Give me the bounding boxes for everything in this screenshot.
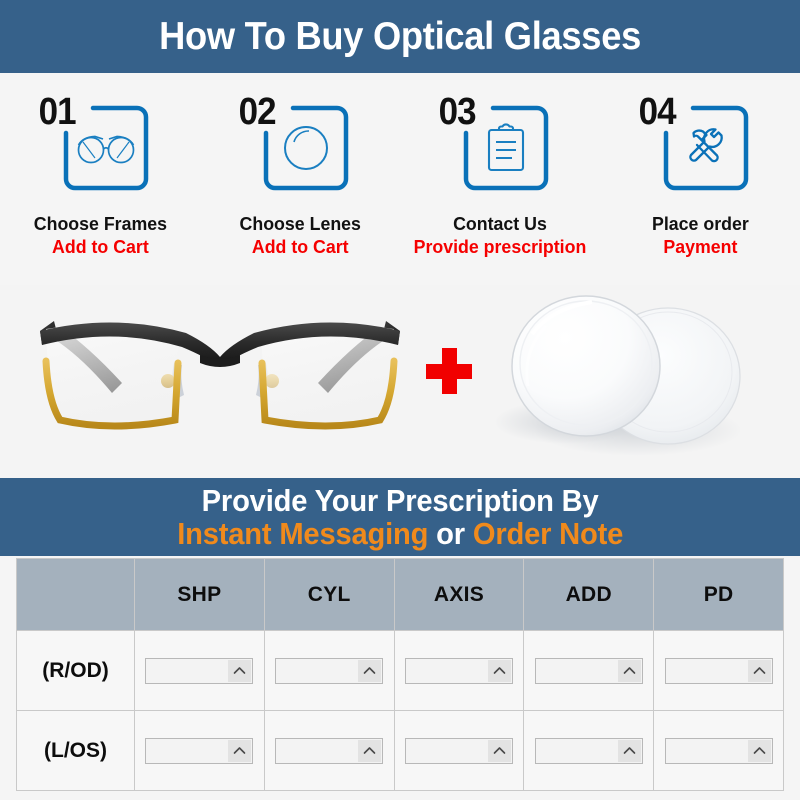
chevron-up-icon[interactable] bbox=[228, 660, 251, 682]
step-3-number: 03 bbox=[439, 93, 476, 131]
select-left-cyl[interactable] bbox=[275, 738, 383, 764]
cell-left-cyl bbox=[264, 711, 394, 791]
hammer-wrench-icon bbox=[663, 105, 749, 191]
step-1-label: Choose Frames bbox=[33, 213, 166, 234]
step-item-2: 02 Choose Lenes Add to Cart bbox=[200, 73, 400, 285]
row-label-left-eye: (L/OS) bbox=[17, 711, 135, 791]
step-2-icon-wrap: 02 bbox=[235, 91, 365, 199]
column-header-pd: PD bbox=[654, 559, 784, 631]
step-2-labels: Choose Lenes Add to Cart bbox=[237, 213, 363, 258]
cell-right-pd bbox=[654, 631, 784, 711]
plus-icon bbox=[426, 348, 472, 394]
step-4-sub-label: Payment bbox=[652, 236, 749, 257]
column-header-shp: SHP bbox=[135, 559, 265, 631]
step-item-1: 01 bbox=[0, 73, 200, 285]
select-left-shp[interactable] bbox=[145, 738, 253, 764]
select-left-axis[interactable] bbox=[405, 738, 513, 764]
step-1-icon-wrap: 01 bbox=[35, 91, 165, 199]
select-right-cyl[interactable] bbox=[275, 658, 383, 684]
order-note-text: Order Note bbox=[473, 516, 623, 551]
step-1-sub-label: Add to Cart bbox=[33, 236, 166, 257]
prescription-banner-line1: Provide Your Prescription By bbox=[202, 484, 599, 517]
step-item-3: 03 Conta bbox=[400, 73, 600, 285]
eyeglasses-icon bbox=[63, 105, 149, 191]
clipboard-icon bbox=[463, 105, 549, 191]
select-right-pd[interactable] bbox=[665, 658, 773, 684]
chevron-up-icon[interactable] bbox=[618, 740, 641, 762]
step-4-icon-wrap: 04 bbox=[635, 91, 765, 199]
step-3-labels: Contact Us Provide prescription bbox=[410, 213, 590, 258]
select-left-pd[interactable] bbox=[665, 738, 773, 764]
cell-right-axis bbox=[394, 631, 524, 711]
select-right-axis[interactable] bbox=[405, 658, 513, 684]
cell-right-add bbox=[524, 631, 654, 711]
cell-left-pd bbox=[654, 711, 784, 791]
chevron-up-icon[interactable] bbox=[488, 740, 511, 762]
chevron-up-icon[interactable] bbox=[748, 740, 771, 762]
connector-text: or bbox=[428, 516, 473, 551]
plus-vertical-bar bbox=[442, 348, 457, 394]
step-3-label: Contact Us bbox=[414, 213, 587, 234]
prescription-table-body: (R/OD) bbox=[17, 631, 784, 791]
instant-messaging-text: Instant Messaging bbox=[177, 516, 428, 551]
lens-pair-photo bbox=[488, 290, 788, 470]
chevron-up-icon[interactable] bbox=[358, 660, 381, 682]
table-row: (R/OD) bbox=[17, 631, 784, 711]
step-2-number: 02 bbox=[239, 93, 276, 131]
step-1-labels: Choose Frames Add to Cart bbox=[31, 213, 170, 258]
step-3-sub-label: Provide prescription bbox=[414, 236, 587, 257]
cell-left-axis bbox=[394, 711, 524, 791]
step-2-label: Choose Lenes bbox=[239, 213, 360, 234]
step-item-4: 04 Place bbox=[600, 73, 800, 285]
cell-left-add bbox=[524, 711, 654, 791]
prescription-banner-line2: Instant Messaging or Order Note bbox=[177, 517, 623, 552]
cell-right-cyl bbox=[264, 631, 394, 711]
chevron-up-icon[interactable] bbox=[488, 660, 511, 682]
header-banner: How To Buy Optical Glasses bbox=[0, 0, 800, 73]
chevron-up-icon[interactable] bbox=[228, 740, 251, 762]
prescription-banner: Provide Your Prescription By Instant Mes… bbox=[0, 478, 800, 556]
table-row: (L/OS) bbox=[17, 711, 784, 791]
step-4-label: Place order bbox=[652, 213, 749, 234]
step-1-number: 01 bbox=[39, 93, 76, 131]
column-header-add: ADD bbox=[524, 559, 654, 631]
table-header-row: SHP CYL AXIS ADD PD bbox=[17, 559, 784, 631]
select-right-add[interactable] bbox=[535, 658, 643, 684]
cell-right-shp bbox=[135, 631, 265, 711]
steps-row: 01 bbox=[0, 73, 800, 285]
select-right-shp[interactable] bbox=[145, 658, 253, 684]
lens-circle-icon bbox=[263, 105, 349, 191]
step-4-number: 04 bbox=[639, 93, 676, 131]
step-2-sub-label: Add to Cart bbox=[239, 236, 360, 257]
table-corner-cell bbox=[17, 559, 135, 631]
prescription-table-head: SHP CYL AXIS ADD PD bbox=[17, 559, 784, 631]
column-header-axis: AXIS bbox=[394, 559, 524, 631]
page-root: How To Buy Optical Glasses 01 bbox=[0, 0, 800, 800]
step-3-icon-wrap: 03 bbox=[435, 91, 565, 199]
chevron-up-icon[interactable] bbox=[748, 660, 771, 682]
prescription-table-wrap: SHP CYL AXIS ADD PD (R/OD) bbox=[16, 558, 784, 790]
page-title: How To Buy Optical Glasses bbox=[159, 17, 641, 56]
chevron-up-icon[interactable] bbox=[358, 740, 381, 762]
cell-left-shp bbox=[135, 711, 265, 791]
step-4-labels: Place order Payment bbox=[650, 213, 751, 258]
product-row bbox=[0, 285, 800, 470]
prescription-table: SHP CYL AXIS ADD PD (R/OD) bbox=[16, 558, 784, 791]
chevron-up-icon[interactable] bbox=[618, 660, 641, 682]
select-left-add[interactable] bbox=[535, 738, 643, 764]
column-header-cyl: CYL bbox=[264, 559, 394, 631]
row-label-right-eye: (R/OD) bbox=[17, 631, 135, 711]
eyeglasses-photo bbox=[14, 301, 426, 451]
